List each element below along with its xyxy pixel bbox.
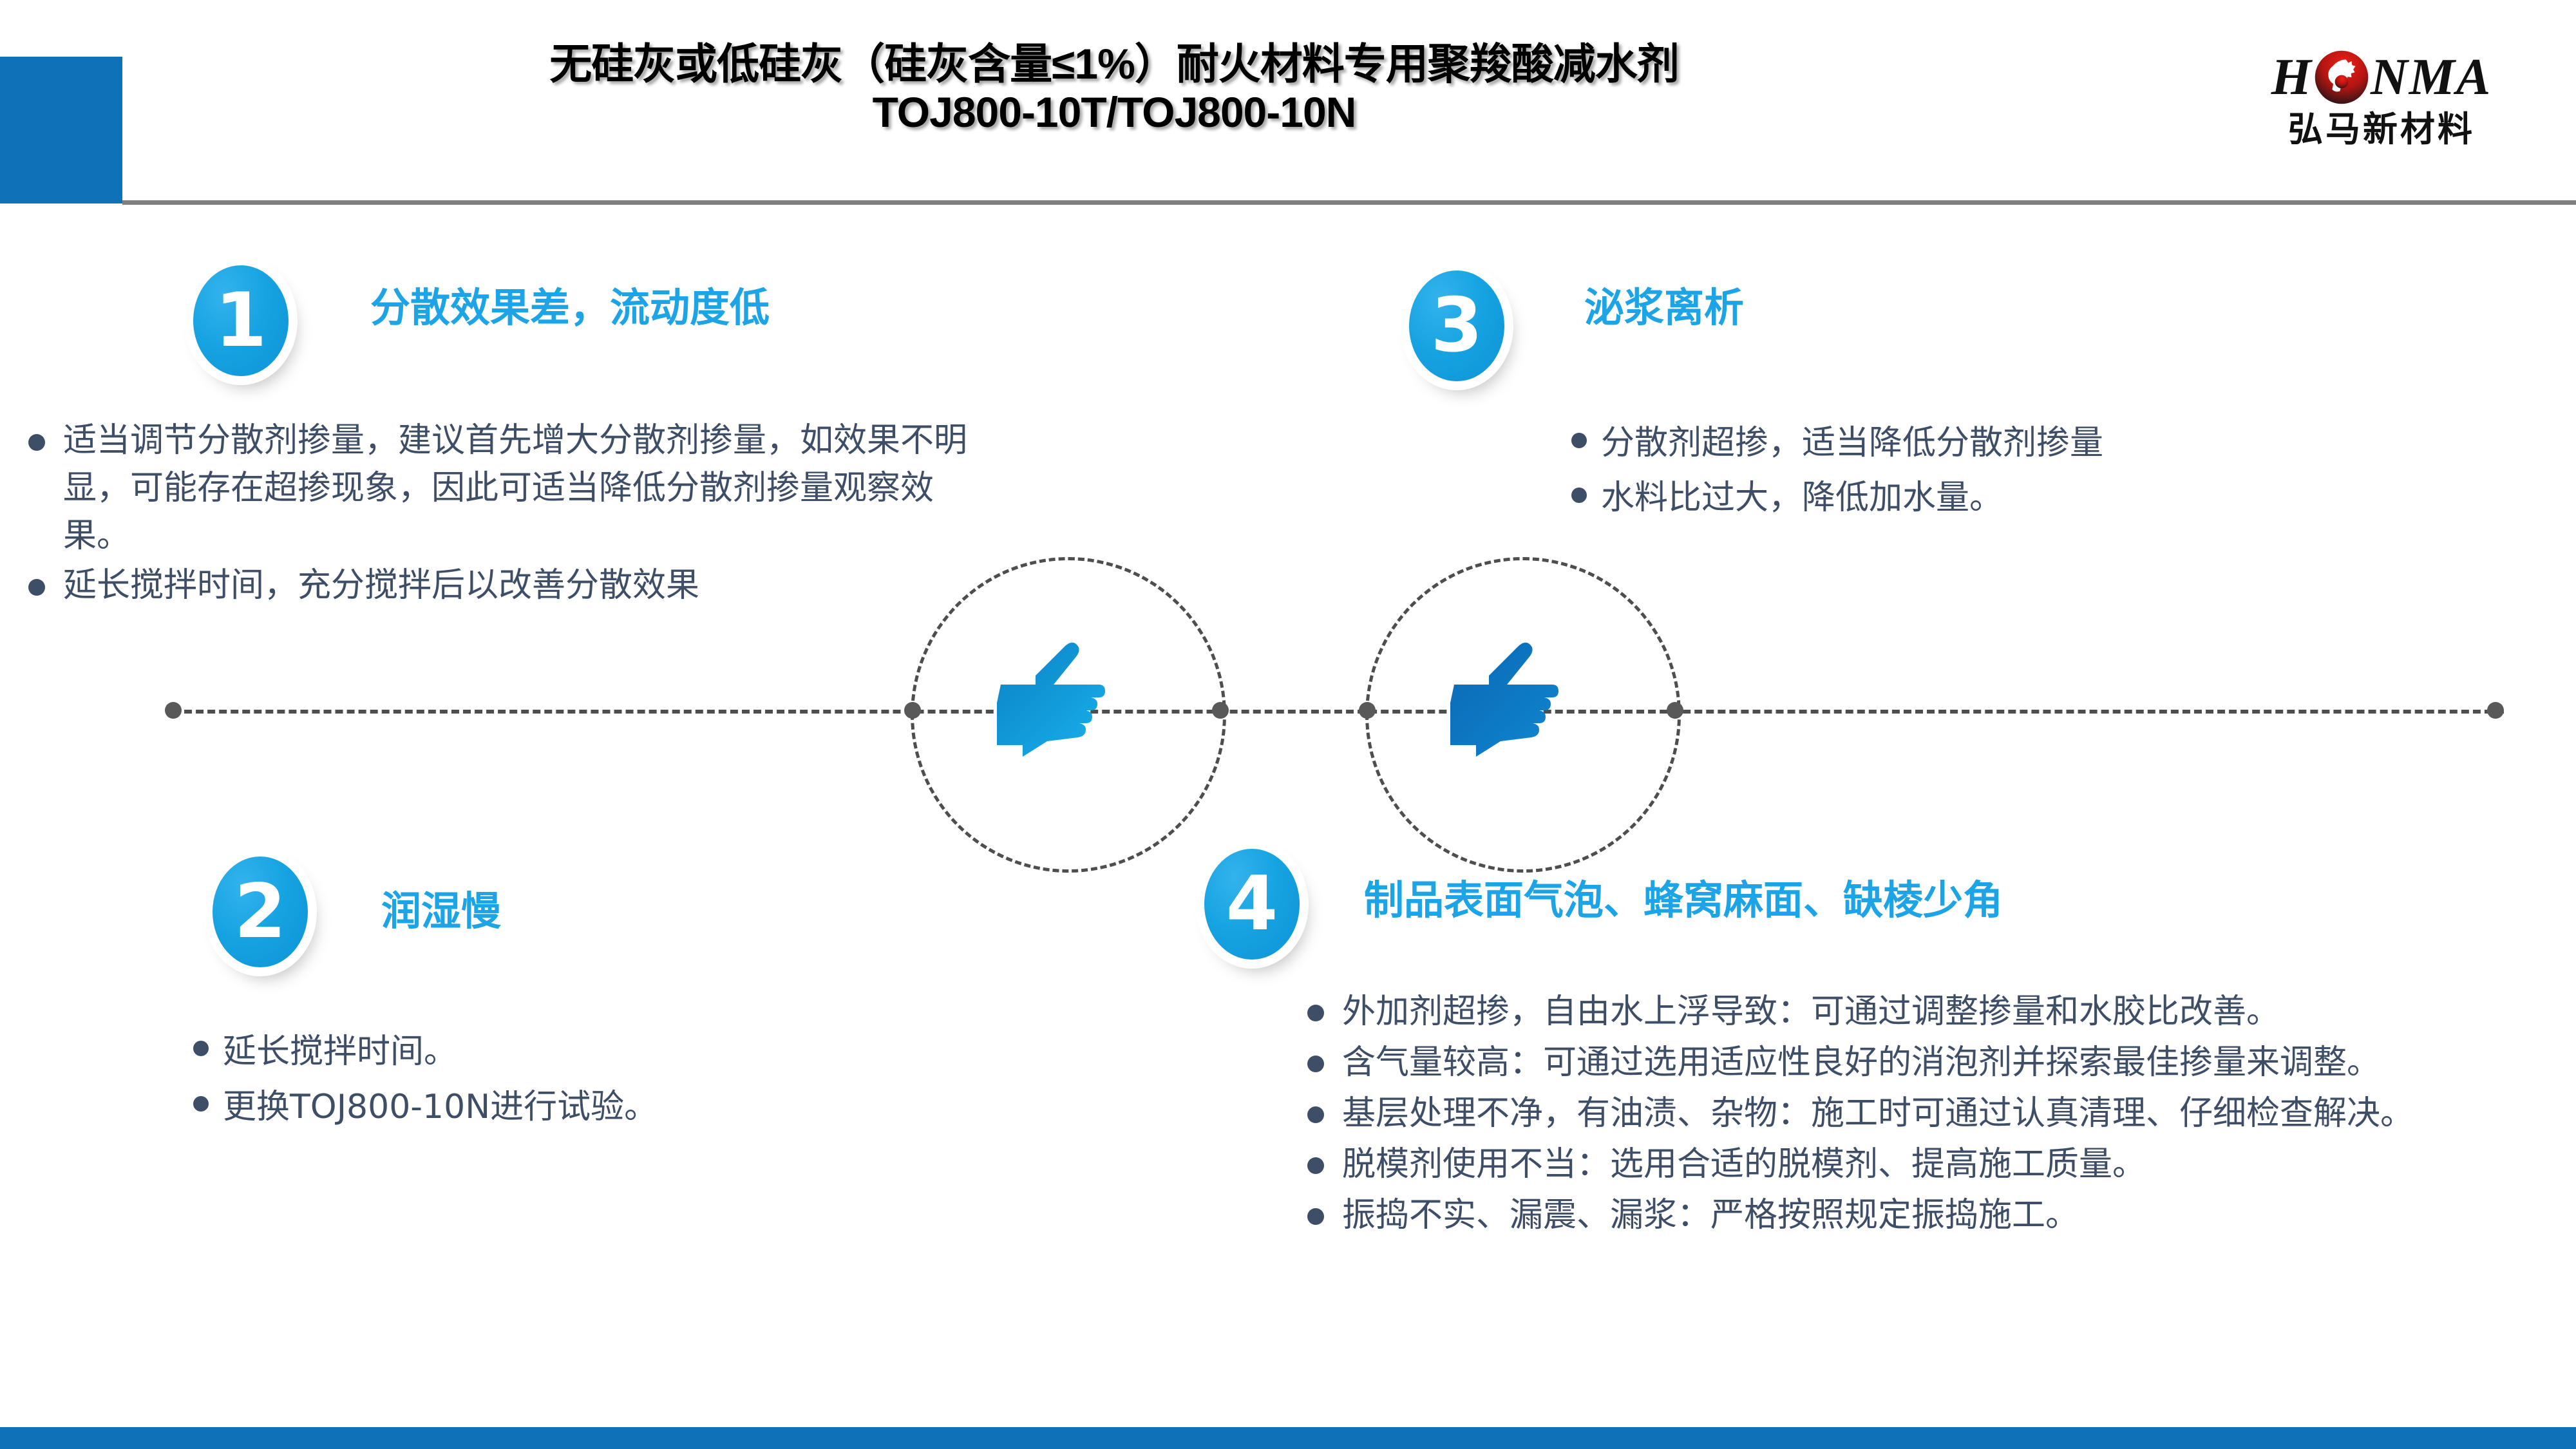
timeline-dashed-line (173, 710, 2504, 714)
logo-letters-nma: NMA (2371, 52, 2492, 103)
footer-accent-bar (0, 1427, 2576, 1449)
list-item: 分散剂超掺，适当降低分散剂掺量 (1571, 417, 2537, 469)
list-item: 外加剂超掺，自由水上浮导致：可通过调整掺量和水胶比改善。 (1300, 988, 2562, 1036)
horse-head-circle-icon (2314, 50, 2369, 105)
header-accent-block (0, 57, 122, 204)
list-item: 延长搅拌时间。 (193, 1025, 1095, 1078)
section-badge-2: 2 (213, 857, 308, 967)
list-item: 适当调节分散剂掺量，建议首先增大分散剂掺量，如效果不明显，可能存在超掺现象，因此… (21, 417, 987, 560)
list-item: 振捣不实、漏震、漏浆：严格按照规定振捣施工。 (1300, 1191, 2562, 1240)
section-body-2: 延长搅拌时间。 更换TOJ800-10N进行试验。 (193, 1025, 1095, 1136)
bullet-list-1: 适当调节分散剂掺量，建议首先增大分散剂掺量，如效果不明显，可能存在超掺现象，因此… (21, 417, 987, 610)
section-title-3: 泌浆离析 (1584, 289, 1744, 328)
section-title-4: 制品表面气泡、蜂窝麻面、缺棱少角 (1364, 881, 2003, 921)
timeline-dot-2 (904, 702, 921, 719)
timeline-dot-4 (1359, 702, 1376, 719)
bullet-list-2: 延长搅拌时间。 更换TOJ800-10N进行试验。 (193, 1025, 1095, 1133)
section-body-1: 适当调节分散剂掺量，建议首先增大分散剂掺量，如效果不明显，可能存在超掺现象，因此… (21, 417, 987, 612)
section-badge-3: 3 (1409, 270, 1504, 381)
section-body-3: 分散剂超掺，适当降低分散剂掺量 水料比过大，降低加水量。 (1571, 417, 2537, 526)
header-divider-rule (122, 200, 2576, 205)
timeline-dot-6 (2487, 702, 2504, 719)
bullet-list-3: 分散剂超掺，适当降低分散剂掺量 水料比过大，降低加水量。 (1571, 417, 2537, 524)
section-title-2: 润湿慢 (381, 892, 501, 932)
list-item: 延长搅拌时间，充分搅拌后以改善分散效果 (21, 562, 987, 610)
hand-point-left-icon-1 (997, 628, 1139, 795)
page-title: 无硅灰或低硅灰（硅灰含量≤1%）耐火材料专用聚羧酸减水剂 TOJ800-10T/… (129, 40, 2099, 137)
section-title-1: 分散效果差，流动度低 (370, 289, 770, 328)
timeline-dot-3 (1212, 702, 1229, 719)
list-item: 更换TOJ800-10N进行试验。 (193, 1081, 1095, 1133)
timeline-dot-5 (1667, 702, 1683, 719)
section-badge-4: 4 (1204, 849, 1300, 960)
list-item: 含气量较高：可通过选用适应性良好的消泡剂并探索最佳掺量来调整。 (1300, 1039, 2562, 1087)
section-badge-1: 1 (193, 265, 289, 376)
logo-wordmark: H NMA (2227, 46, 2536, 108)
logo-chinese-name: 弘马新材料 (2227, 112, 2536, 147)
bullet-list-4: 外加剂超掺，自由水上浮导致：可通过调整掺量和水胶比改善。 含气量较高：可通过选用… (1300, 988, 2562, 1239)
list-item: 水料比过大，降低加水量。 (1571, 472, 2537, 524)
list-item: 脱模剂使用不当：选用合适的脱模剂、提高施工质量。 (1300, 1141, 2562, 1189)
slide-canvas: 无硅灰或低硅灰（硅灰含量≤1%）耐火材料专用聚羧酸减水剂 TOJ800-10T/… (0, 0, 2576, 1449)
list-item: 基层处理不净，有油渍、杂物：施工时可通过认真清理、仔细检查解决。 (1300, 1090, 2562, 1138)
timeline-dot-1 (165, 702, 182, 719)
company-logo: H NMA 弘马新材料 (2227, 46, 2536, 169)
section-body-4: 外加剂超掺，自由水上浮导致：可通过调整掺量和水胶比改善。 含气量较高：可通过选用… (1300, 988, 2562, 1242)
hand-point-left-icon-2 (1450, 628, 1592, 795)
logo-letter-h: H (2271, 52, 2313, 103)
